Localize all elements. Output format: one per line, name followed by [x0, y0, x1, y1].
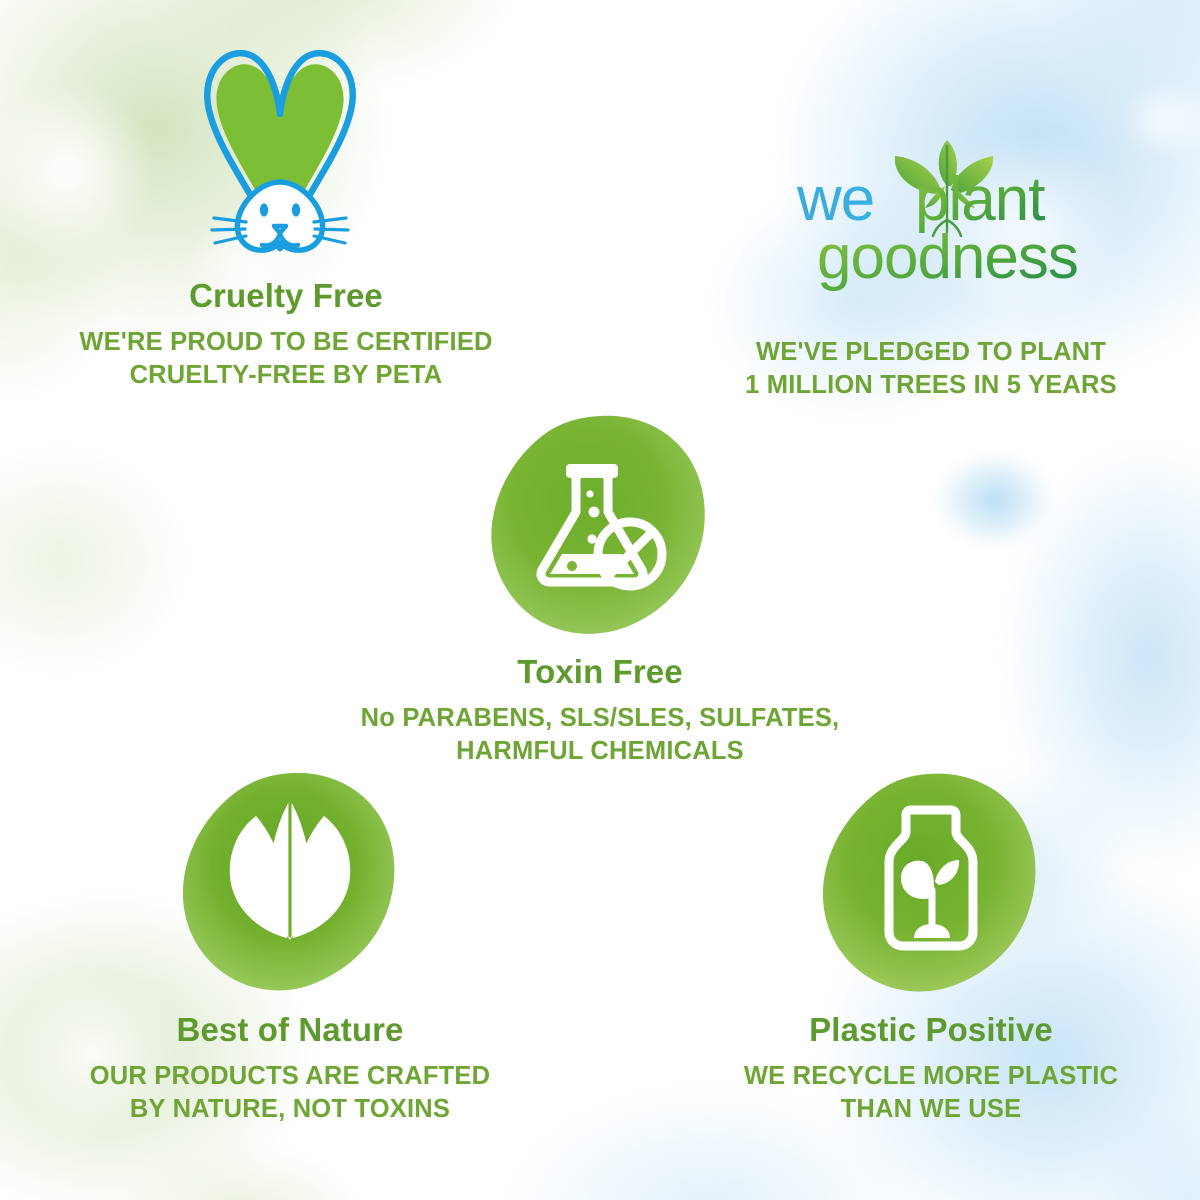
badge-toxin-free: Toxin Free No PARABENS, SLS/SLES, SULFAT…	[340, 408, 860, 767]
watercolor-blob	[491, 416, 704, 634]
toxin-free-icon-blob	[484, 408, 716, 640]
flask-liquid-dot	[567, 561, 577, 571]
badge-plastic-positive: Plastic Positive WE RECYCLE MORE PLASTIC…	[676, 766, 1186, 1125]
flask-bubble-1	[586, 490, 593, 497]
watercolor-speck-blue	[910, 430, 1080, 570]
flask-bubble-3	[587, 534, 596, 543]
flask-bubble-2	[589, 507, 600, 518]
badge-description-we-plant-goodness: WE'VE PLEDGED TO PLANT 1 MILLION TREES I…	[676, 336, 1186, 401]
three-leaves-icon	[174, 766, 406, 998]
bunny-heart-icon	[190, 36, 370, 266]
bunny-eye-right	[292, 203, 300, 216]
watercolor-wash-green-mid-left	[0, 400, 240, 720]
badge-title-plastic-positive: Plastic Positive	[676, 1012, 1186, 1049]
badge-cruelty-free: Cruelty Free WE'RE PROUD TO BE CERTIFIED…	[26, 278, 546, 391]
badge-title-toxin-free: Toxin Free	[340, 654, 860, 691]
peta-cruelty-free-bunny-logo	[190, 36, 370, 266]
badge-title-cruelty-free: Cruelty Free	[26, 278, 546, 315]
badge-description-cruelty-free: WE'RE PROUD TO BE CERTIFIED CRUELTY-FREE…	[26, 326, 546, 391]
bottle-sprout-icon	[815, 766, 1047, 998]
best-of-nature-icon-blob	[174, 766, 406, 998]
plastic-positive-icon-blob	[815, 766, 1047, 998]
badge-best-of-nature: Best of Nature OUR PRODUCTS ARE CRAFTED …	[30, 766, 550, 1125]
badge-description-toxin-free: No PARABENS, SLS/SLES, SULFATES, HARMFUL…	[340, 702, 860, 767]
eco-claims-infographic: Cruelty Free WE'RE PROUD TO BE CERTIFIED…	[0, 0, 1200, 1200]
badge-title-best-of-nature: Best of Nature	[30, 1012, 550, 1049]
flask-no-toxins-icon	[484, 408, 716, 640]
logo-word-goodness: goodness	[817, 223, 1078, 292]
bunny-eye-left	[260, 203, 268, 216]
badge-description-best-of-nature: OUR PRODUCTS ARE CRAFTED BY NATURE, NOT …	[30, 1060, 550, 1125]
we-plant-goodness-wordmark: we plant goodness	[795, 128, 1125, 298]
we-plant-goodness-logo: we plant goodness	[795, 128, 1125, 298]
badge-we-plant-goodness: WE'VE PLEDGED TO PLANT 1 MILLION TREES I…	[676, 336, 1186, 401]
badge-description-plastic-positive: WE RECYCLE MORE PLASTIC THAN WE USE	[676, 1060, 1186, 1125]
